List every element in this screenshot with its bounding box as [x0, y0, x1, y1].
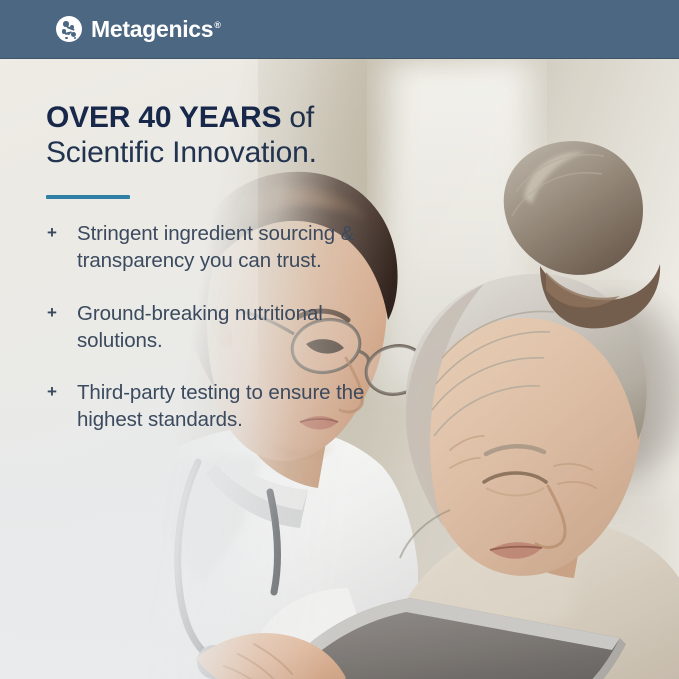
headline-light: of	[281, 101, 314, 134]
list-item: + Third-party testing to ensure the high…	[46, 379, 376, 434]
list-item-text: Stringent ingredient sourcing & transpar…	[77, 222, 354, 272]
brand-name: Metagenics®	[91, 18, 221, 41]
list-item: + Stringent ingredient sourcing & transp…	[46, 220, 376, 275]
list-item: + Ground-breaking nutritional solutions.	[46, 300, 376, 355]
brand-header-bar: Metagenics®	[0, 0, 679, 58]
hero-content: OVER 40 YEARS of Scientific Innovation. …	[46, 100, 376, 434]
brand-lockup: Metagenics®	[56, 16, 221, 42]
plus-icon: +	[47, 381, 57, 404]
plus-icon: +	[47, 222, 57, 245]
brand-name-text: Metagenics	[91, 16, 213, 42]
benefits-list: + Stringent ingredient sourcing & transp…	[46, 220, 376, 434]
headline-strong: OVER 40 YEARS	[46, 101, 281, 134]
metagenics-molecule-icon	[56, 16, 82, 42]
plus-icon: +	[47, 302, 57, 325]
accent-divider	[46, 195, 130, 199]
list-item-text: Ground-breaking nutritional solutions.	[77, 302, 323, 352]
registered-trademark-mark: ®	[214, 20, 220, 30]
headline-line-two: Scientific Innovation.	[46, 135, 376, 170]
headline: OVER 40 YEARS of Scientific Innovation.	[46, 100, 376, 170]
metagenics-brand-ad: Metagenics® OVER 40 YEARS of Scientific …	[0, 0, 679, 679]
list-item-text: Third-party testing to ensure the highes…	[77, 381, 364, 431]
